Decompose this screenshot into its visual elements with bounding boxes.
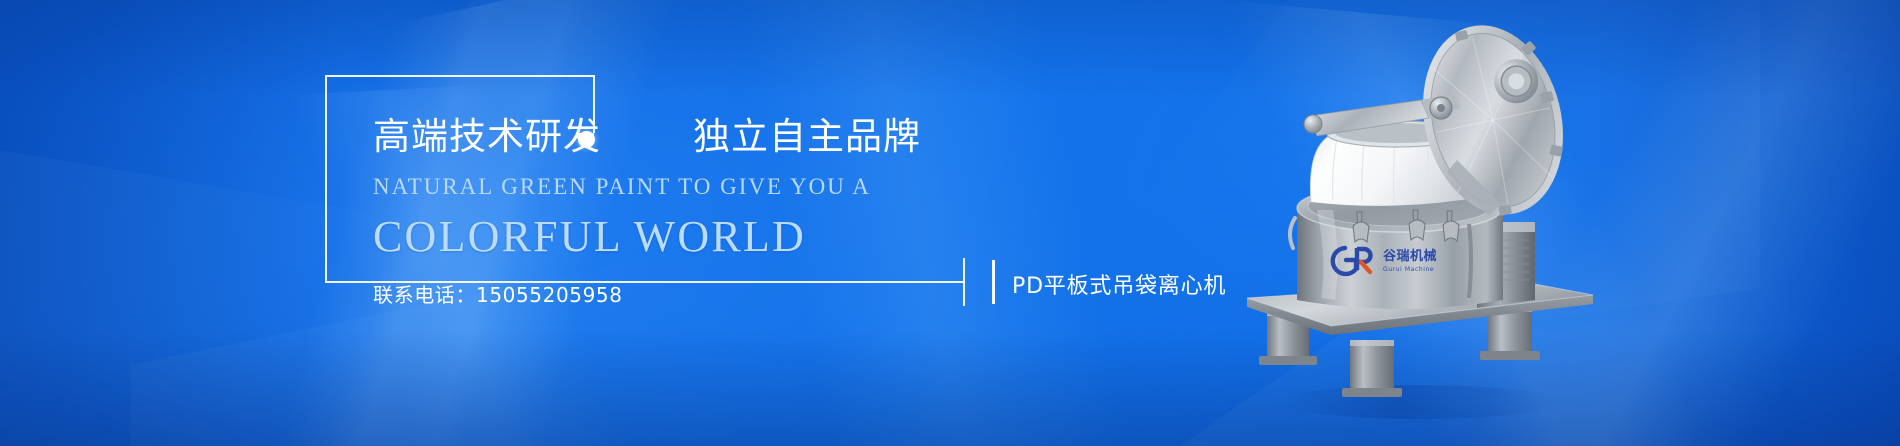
subtitle-english: NATURAL GREEN PAINT TO GIVE YOU A (373, 174, 1013, 200)
caption-leader-tick (963, 258, 965, 306)
headline-left: 高端技术研发 (373, 115, 601, 158)
product-photo-centrifuge: 谷瑞机械 Gurui Machine (1245, 10, 1595, 430)
promo-banner: 高端技术研发独立自主品牌 NATURAL GREEN PAINT TO GIVE… (0, 0, 1900, 446)
svg-text:Gurui Machine: Gurui Machine (1383, 266, 1434, 273)
headline-right: 独立自主品牌 (693, 115, 921, 158)
caption-leader-line (485, 281, 965, 283)
caption-leader-bar (992, 260, 995, 304)
tagline-english: COLORFUL WORLD (373, 211, 1013, 262)
contact-phone: 联系电话：15055205958 (373, 279, 1013, 308)
headline-block: 高端技术研发独立自主品牌 NATURAL GREEN PAINT TO GIVE… (373, 112, 1013, 308)
product-caption: PD平板式吊袋离心机 (1012, 268, 1226, 300)
headline-row: 高端技术研发独立自主品牌 (373, 112, 1013, 162)
svg-text:谷瑞机械: 谷瑞机械 (1383, 248, 1437, 264)
